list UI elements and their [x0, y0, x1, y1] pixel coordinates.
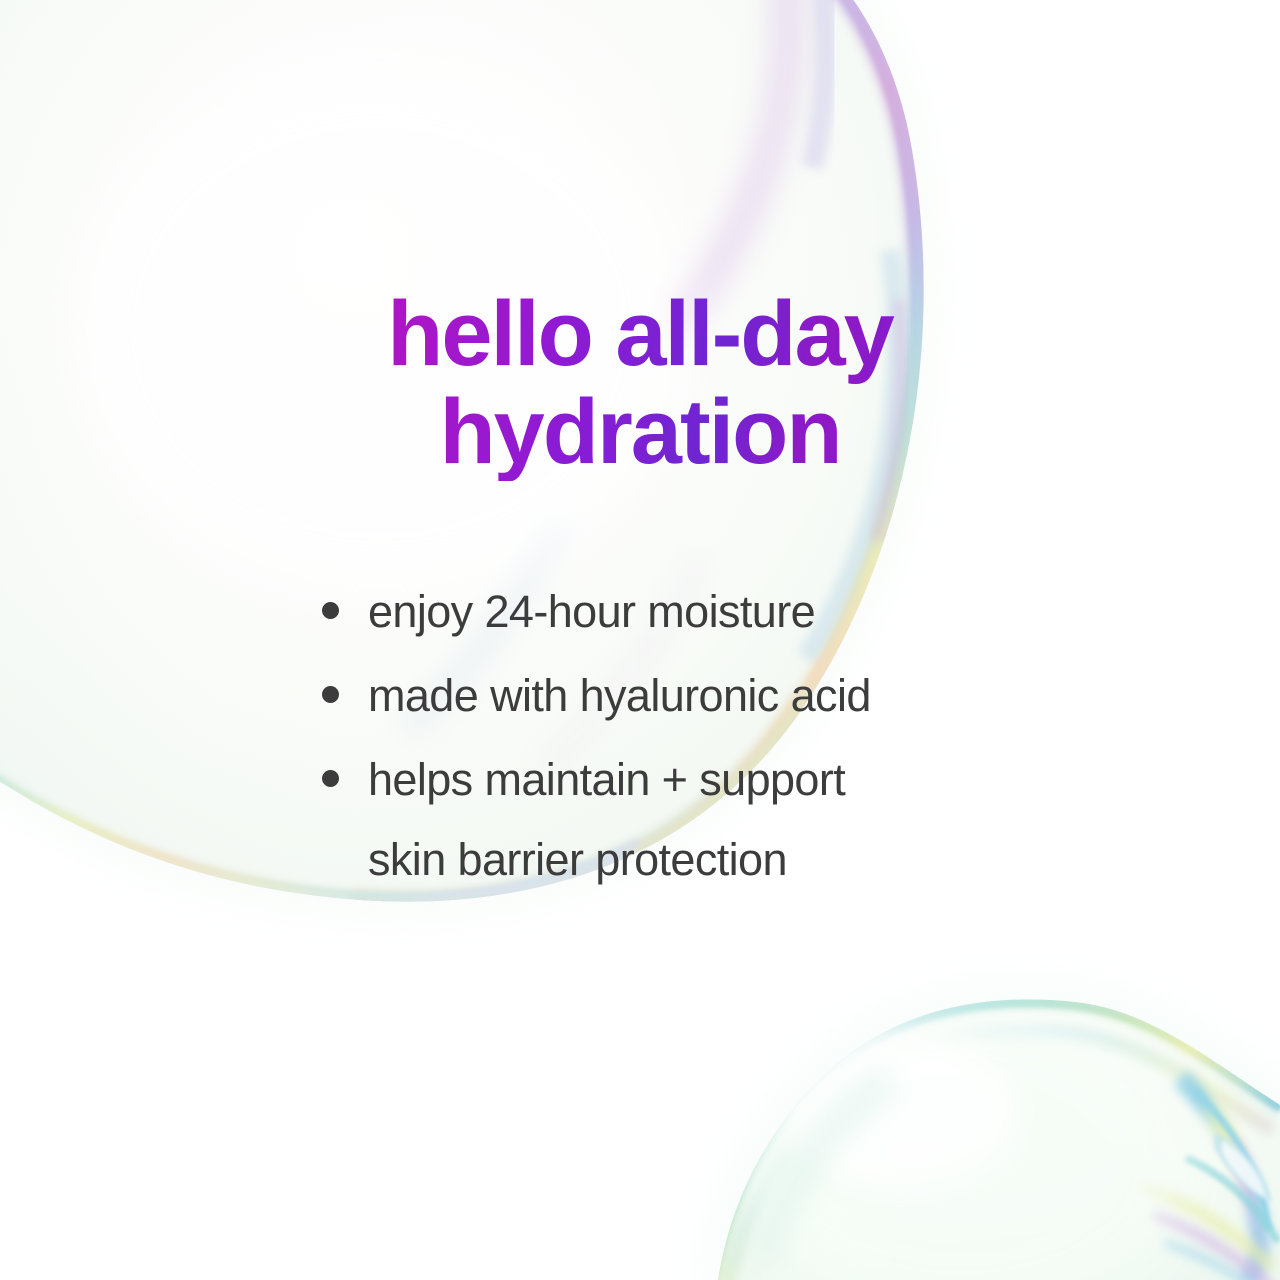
marketing-copy: hello all-day hydration enjoy 24-hour mo…	[0, 0, 1280, 1280]
bullet-dot-icon	[322, 686, 339, 703]
list-item: enjoy 24-hour moisture	[322, 580, 1082, 644]
list-item: made with hyaluronic acid	[322, 664, 1082, 728]
list-item: helps maintain + support skin barrier pr…	[322, 748, 1082, 892]
benefit-text: made with hyaluronic acid	[368, 664, 871, 728]
benefit-text: enjoy 24-hour moisture	[368, 580, 815, 644]
headline-line-1: hello all-day	[0, 286, 1280, 384]
product-marketing-canvas: hello all-day hydration enjoy 24-hour mo…	[0, 0, 1280, 1280]
bullet-dot-icon	[322, 770, 339, 787]
benefits-list: enjoy 24-hour moisture made with hyaluro…	[322, 580, 1082, 892]
page-title: hello all-day hydration	[0, 286, 1280, 481]
headline-line-2: hydration	[0, 384, 1280, 482]
benefit-text: helps maintain + support	[368, 748, 845, 812]
benefit-text-continuation: skin barrier protection	[368, 828, 1082, 892]
bullet-dot-icon	[322, 602, 339, 619]
